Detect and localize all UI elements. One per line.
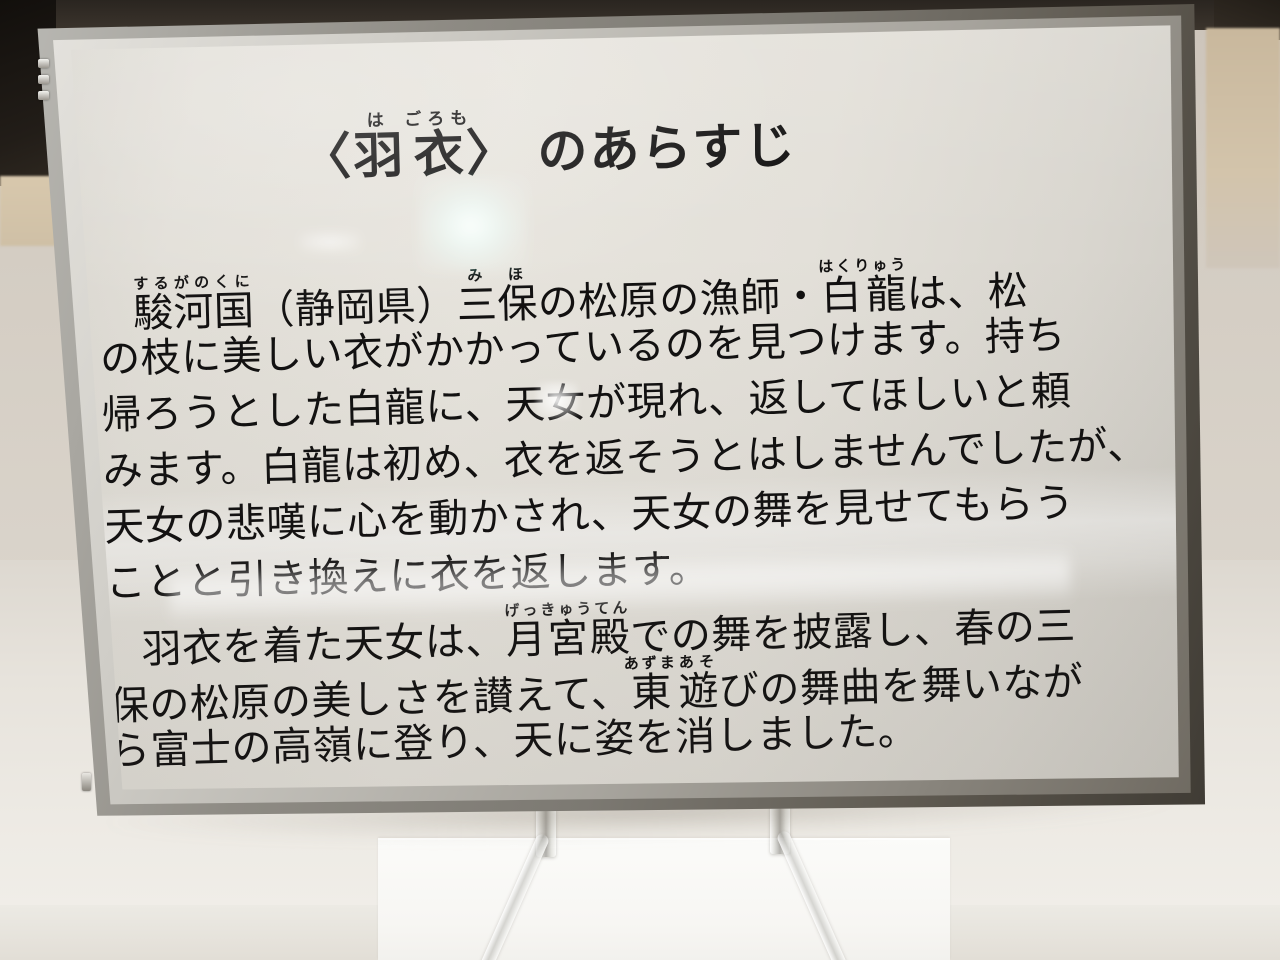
exhibit-scene: 〈羽は衣ごろも〉 のあらすじ 駿河国するがのくに（静岡県）三保みほの松原の漁師・…: [0, 0, 1280, 960]
ruby-rt-miho: みほ: [456, 265, 537, 285]
ruby-rt-aso: あそ: [678, 652, 719, 671]
framed-information-board: 〈羽は衣ごろも〉 のあらすじ 駿河国するがのくに（静岡県）三保みほの松原の漁師・…: [0, 0, 1280, 960]
ruby-gekkyuden: 月宮殿げっきゅうてん: [505, 615, 631, 664]
title-base-2: 衣: [404, 124, 474, 184]
body-line-7-head: 羽衣を着た天女は、: [141, 618, 507, 673]
title-ruby-hagoromo-2: 衣ごろも: [404, 125, 466, 185]
title-bracket-open: 〈: [300, 127, 353, 186]
panel-text-layer: 〈羽は衣ごろも〉 のあらすじ 駿河国するがのくに（静岡県）三保みほの松原の漁師・…: [92, 11, 1179, 728]
printed-panel: 〈羽は衣ごろも〉 のあらすじ 駿河国するがのくに（静岡県）三保みほの松原の漁師・…: [22, 4, 1217, 824]
panel-body-text: 駿河国するがのくに（静岡県）三保みほの松原の漁師・白龍はくりゅうは、松 の枝に美…: [98, 249, 1180, 780]
page-title: 〈羽は衣ごろも〉 のあらすじ: [105, 41, 1167, 238]
ruby-rt-surugano: するがのくに: [132, 272, 254, 293]
frame-clip-top-1: [38, 59, 49, 68]
ruby-rt-gekkyuden: げっきゅうてん: [504, 599, 630, 620]
title-suffix: 〉 のあらすじ: [465, 116, 797, 182]
title-base-1: 羽: [352, 126, 405, 185]
title-rt-2: ごろも: [404, 108, 473, 130]
frame-clip-top-3: [38, 91, 49, 100]
frame-clip-top-2: [38, 75, 49, 84]
ruby-rt-hakuryu: はくりゅう: [818, 255, 908, 275]
ruby-base-gekkyuden: 月宮殿: [505, 615, 632, 664]
title-ruby-hagoromo-1: 羽は: [352, 126, 405, 185]
ruby-rt-azuma: あずま: [624, 653, 678, 672]
title-rt-1: は: [352, 110, 404, 131]
frame-clip-bottom-1: [82, 773, 91, 791]
